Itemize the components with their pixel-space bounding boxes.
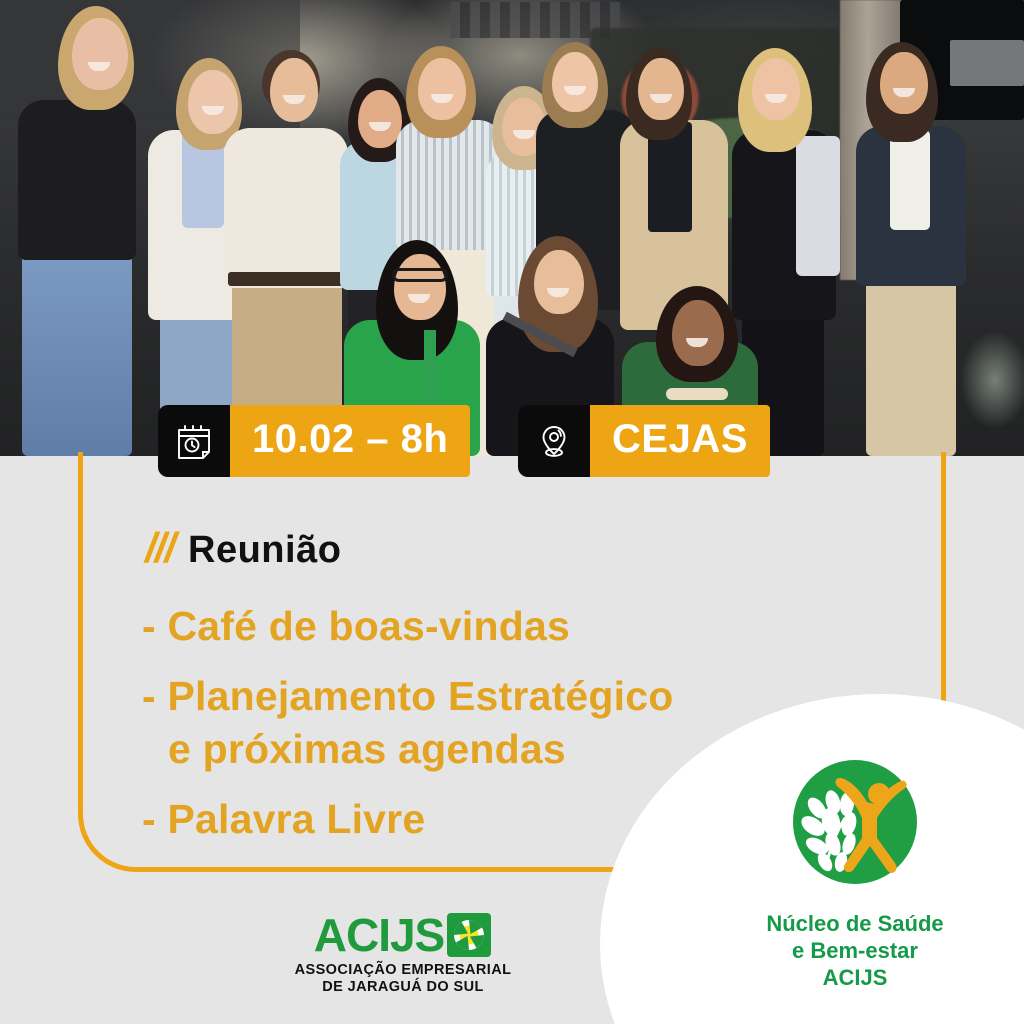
event-poster: 10.02 – 8h CEJAS /// Reunião - Café de b… xyxy=(0,0,1024,1024)
agenda-list: - Café de boas-vindas - Planejamento Est… xyxy=(142,600,782,864)
acijs-logo: ACIJS ASSOCIAÇÃO EMPRESARIAL DE JARAGUÁ … xyxy=(288,912,518,995)
photo-shelf xyxy=(950,40,1024,86)
agenda-item-line2: e próximas agendas xyxy=(142,723,782,775)
nucleo-caption: Núcleo de Saúde e Bem-estar ACIJS xyxy=(740,911,970,991)
place-badge-label: CEJAS xyxy=(590,405,770,477)
acijs-wordmark-row: ACIJS xyxy=(288,912,518,958)
info-badges: 10.02 – 8h CEJAS xyxy=(0,405,1024,485)
slash-decoration: /// xyxy=(145,524,174,572)
nucleo-caption-line1: Núcleo de Saúde xyxy=(740,911,970,938)
date-badge: 10.02 – 8h xyxy=(158,405,470,477)
agenda-item: - Café de boas-vindas xyxy=(142,600,782,652)
decorative-frame-right xyxy=(941,452,946,705)
date-badge-label: 10.02 – 8h xyxy=(230,405,470,477)
section-title: /// Reunião xyxy=(145,524,341,572)
acijs-subtitle-line2: DE JARAGUÁ DO SUL xyxy=(288,979,518,995)
agenda-item: - Palavra Livre xyxy=(142,793,782,845)
page-title: Reunião xyxy=(188,529,341,572)
nucleo-tree-person-icon xyxy=(775,752,935,902)
place-badge: CEJAS xyxy=(518,405,770,477)
nucleo-caption-line3: ACIJS xyxy=(740,965,970,992)
nucleo-caption-line2: e Bem-estar xyxy=(740,938,970,965)
acijs-aperture-icon xyxy=(446,912,492,958)
calendar-clock-icon xyxy=(158,405,230,477)
agenda-item-line1: - Café de boas-vindas xyxy=(142,603,570,649)
nucleo-logo: Núcleo de Saúde e Bem-estar ACIJS xyxy=(740,752,970,991)
acijs-subtitle-line1: ASSOCIAÇÃO EMPRESARIAL xyxy=(288,962,518,978)
map-pin-icon xyxy=(518,405,590,477)
agenda-item-line1: - Planejamento Estratégico xyxy=(142,673,674,719)
acijs-wordmark: ACIJS xyxy=(314,912,444,958)
agenda-item: - Planejamento Estratégico e próximas ag… xyxy=(142,670,782,775)
event-group-photo xyxy=(0,0,1024,456)
agenda-item-line1: - Palavra Livre xyxy=(142,796,425,842)
